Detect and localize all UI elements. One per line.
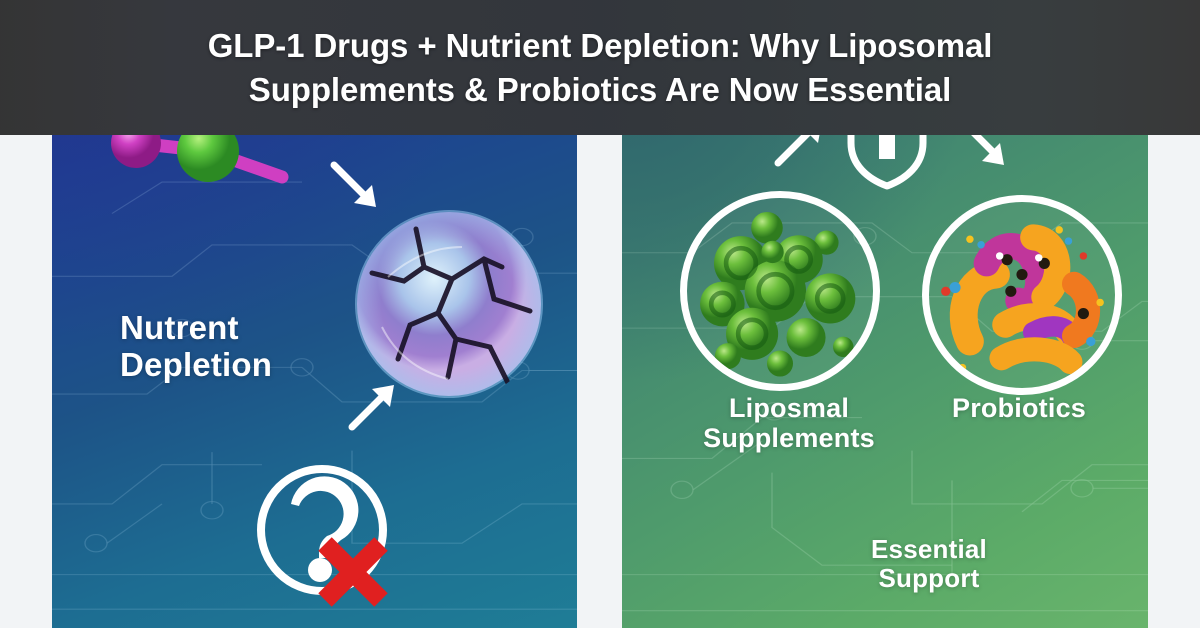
label-line-2: Depletion: [120, 346, 272, 383]
infographic-canvas: Drugs: [0, 0, 1200, 628]
right-artwork-panel: Liposmal Supplements Probiotics Essentia…: [622, 135, 1148, 628]
support-line-1: Essential: [871, 534, 987, 564]
left-artwork-panel: Drugs: [52, 135, 577, 628]
left-panel-label: Nutrent Depletion: [120, 310, 380, 384]
shield-up-arrow-icon: [844, 135, 930, 191]
arrow-down-right-icon: [324, 155, 386, 217]
arrow-down-right-icon: [952, 135, 1014, 175]
label-line-1: Nutrent: [120, 309, 239, 346]
page-title: GLP-1 Drugs + Nutrient Depletion: Why Li…: [100, 24, 1100, 111]
essential-support-label: Essential Support: [814, 535, 1044, 593]
liposomal-supplements-label: Liposmal Supplements: [644, 393, 934, 453]
title-overlay-band: GLP-1 Drugs + Nutrient Depletion: Why Li…: [0, 0, 1200, 135]
title-line-2: Supplements & Probiotics Are Now Essenti…: [249, 71, 951, 108]
title-line-1: GLP-1 Drugs + Nutrient Depletion: Why Li…: [208, 27, 993, 64]
arrow-up-right-icon: [770, 135, 832, 173]
probiotics-label: Probiotics: [894, 393, 1144, 423]
liposome-cluster-icon: [680, 191, 880, 391]
molecule-icon: [52, 135, 362, 297]
lipo-line-1: Liposmal: [729, 393, 849, 423]
support-line-2: Support: [878, 563, 979, 593]
question-mark-icon: [252, 460, 400, 608]
red-x-icon: [325, 544, 381, 600]
cracked-cell-icon: [352, 207, 547, 402]
lipo-line-2: Supplements: [703, 423, 875, 453]
arrow-up-right-icon: [342, 375, 404, 437]
probiotic-bacteria-icon: [922, 195, 1122, 395]
